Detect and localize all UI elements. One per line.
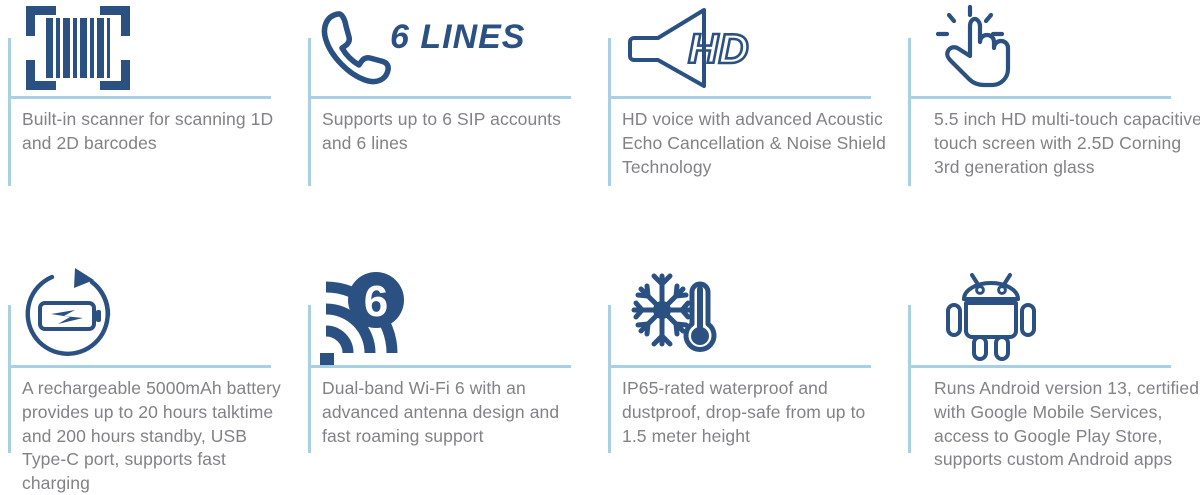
feature-card-android: Runs Android version 13, certified with … (900, 245, 1200, 495)
icon-zone: 6 (320, 271, 500, 359)
accent-rule-horizontal (908, 365, 1171, 368)
icon-zone: HD (626, 4, 806, 92)
icon-label: 6 (364, 277, 388, 326)
icon-label: HD (688, 25, 749, 72)
accent-rule-vertical (8, 38, 11, 186)
feature-grid: Built-in scanner for scanning 1D and 2D … (0, 0, 1200, 495)
feature-card-battery: A rechargeable 5000mAh battery provides … (0, 245, 300, 495)
accent-rule-vertical (308, 305, 311, 453)
accent-rule-vertical (8, 305, 11, 453)
accent-rule-horizontal (908, 96, 1171, 99)
feature-description: Runs Android version 13, certified with … (934, 377, 1200, 472)
phone-handset-icon: 6 LINES (322, 10, 492, 86)
feature-description: A rechargeable 5000mAh battery provides … (22, 377, 290, 495)
feature-card-hd-voice: HD HD voice with advanced Acoustic Echo … (600, 0, 900, 245)
accent-rule-horizontal (308, 365, 571, 368)
accent-rule-horizontal (308, 96, 571, 99)
accent-rule-vertical (908, 38, 911, 186)
feature-card-sip-lines: 6 LINES Supports up to 6 SIP accounts an… (300, 0, 600, 245)
icon-zone (932, 4, 1112, 92)
icon-label: 6 LINES (390, 18, 525, 56)
feature-description: Built-in scanner for scanning 1D and 2D … (22, 108, 290, 156)
icon-zone (630, 271, 810, 359)
accent-rule-horizontal (608, 96, 871, 99)
feature-card-ip65: IP65-rated waterproof and dustproof, dro… (600, 245, 900, 495)
wifi-6-icon: 6 (320, 271, 416, 359)
feature-card-wifi6: 6 Dual-band Wi-Fi 6 with an advanced ant… (300, 245, 600, 495)
icon-zone: 6 LINES (322, 4, 502, 92)
barcode-scanner-icon (26, 6, 130, 90)
feature-card-scanner: Built-in scanner for scanning 1D and 2D … (0, 0, 300, 245)
icon-zone (26, 4, 206, 92)
accent-rule-vertical (908, 305, 911, 453)
feature-card-touchscreen: 5.5 inch HD multi-touch capacitive touch… (900, 0, 1200, 245)
android-robot-icon (948, 269, 1034, 361)
accent-rule-vertical (608, 38, 611, 186)
hd-speaker-icon: HD (626, 7, 756, 89)
accent-rule-vertical (308, 38, 311, 186)
icon-zone (20, 271, 200, 359)
icon-zone (948, 271, 1128, 359)
feature-description: Dual-band Wi-Fi 6 with an advanced anten… (322, 377, 590, 448)
feature-description: 5.5 inch HD multi-touch capacitive touch… (934, 108, 1200, 179)
feature-description: IP65-rated waterproof and dustproof, dro… (622, 377, 890, 448)
feature-description: Supports up to 6 SIP accounts and 6 line… (322, 108, 590, 156)
snowflake-thermometer-icon (630, 270, 730, 360)
rechargeable-battery-icon (20, 266, 120, 364)
accent-rule-horizontal (8, 365, 271, 368)
touch-gesture-hand-icon (932, 4, 1020, 92)
accent-rule-horizontal (8, 96, 271, 99)
accent-rule-horizontal (608, 365, 871, 368)
accent-rule-vertical (608, 305, 611, 453)
feature-description: HD voice with advanced Acoustic Echo Can… (622, 108, 897, 179)
